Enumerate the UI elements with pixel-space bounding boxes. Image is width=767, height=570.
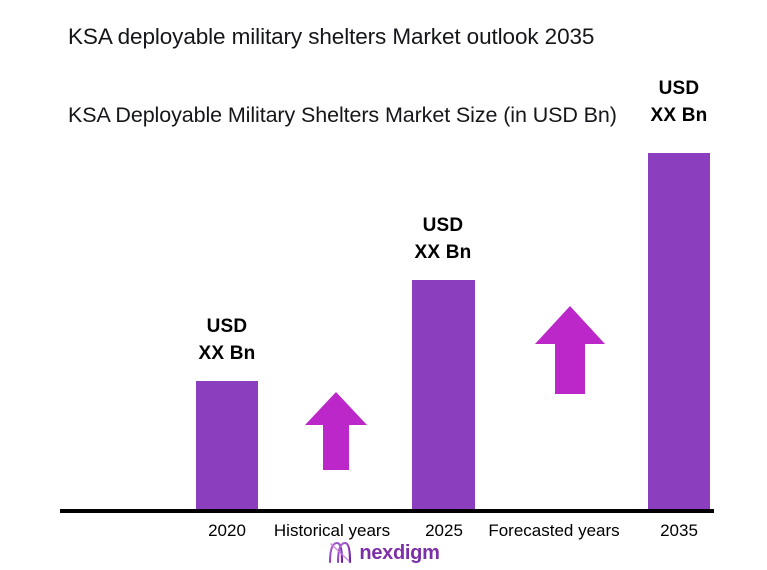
bar-label-2020: USD XX Bn: [157, 313, 297, 367]
bar-label-2035-line1: USD: [609, 75, 749, 102]
bar-label-2025-line1: USD: [373, 212, 513, 239]
x-axis-label-historical-years: Historical years: [252, 520, 412, 542]
bar-label-2035-line2: XX Bn: [609, 102, 749, 129]
brand-logo: nexdigm: [0, 541, 767, 565]
brand-name: nexdigm: [359, 541, 439, 565]
x-axis-label-forecasted-years: Forecasted years: [465, 520, 643, 542]
bar-label-2020-line2: XX Bn: [157, 340, 297, 367]
bar-label-2025-line2: XX Bn: [373, 239, 513, 266]
chart-figure: KSA deployable military shelters Market …: [0, 0, 767, 570]
plot-area: USD XX Bn USD XX Bn USD XX Bn 2020 Histo…: [0, 0, 767, 570]
up-arrow-icon-historical: [305, 392, 367, 470]
bar-2020: [196, 381, 258, 511]
x-axis-line: [60, 509, 714, 513]
bar-2025: [412, 280, 475, 511]
bar-label-2025: USD XX Bn: [373, 212, 513, 266]
bar-2035: [648, 153, 710, 511]
nexdigm-wave-n-icon: [327, 541, 353, 565]
x-axis-label-2035: 2035: [629, 520, 729, 542]
bar-label-2020-line1: USD: [157, 313, 297, 340]
up-arrow-icon-forecasted: [535, 306, 605, 394]
bar-label-2035: USD XX Bn: [609, 75, 749, 129]
